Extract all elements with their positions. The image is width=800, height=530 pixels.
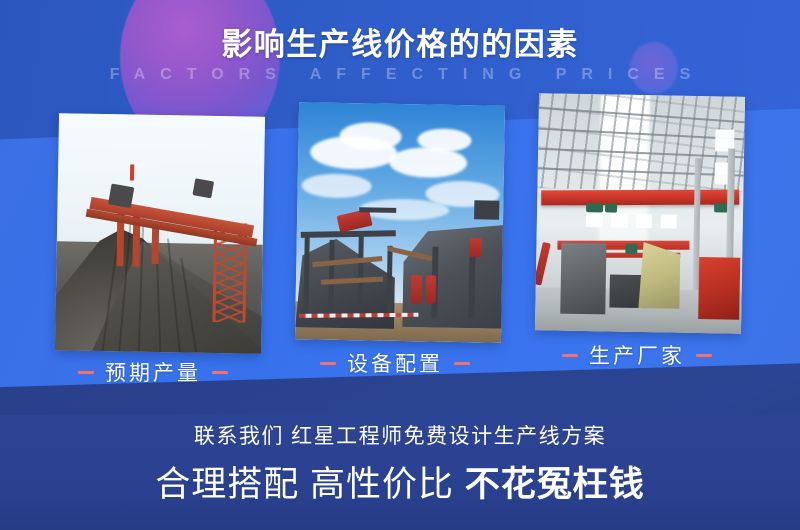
photo-card-equipment-config[interactable]: [295, 102, 505, 343]
dash-left-icon: [320, 362, 336, 365]
photo-factory-interior: [535, 93, 745, 334]
photo-card-manufacturer[interactable]: [535, 93, 745, 334]
caption-expected-output: 预期产量: [78, 357, 228, 387]
dash-right-icon: [454, 362, 470, 365]
page-subtitle: FACTORS AFFECTING PRICES: [0, 66, 800, 84]
photo-aggregate-stockpile: [55, 113, 265, 354]
dash-right-icon: [696, 354, 712, 357]
footer-slogan-light: 合理搭配 高性价比: [155, 465, 464, 504]
dash-right-icon: [212, 371, 228, 374]
caption-manufacturer: 生产厂家: [562, 340, 712, 370]
caption-equipment-config: 设备配置: [320, 348, 470, 378]
footer-contact-line: 联系我们 红星工程师免费设计生产线方案: [0, 420, 800, 450]
page-title: 影响生产线价格的的因素: [0, 26, 800, 63]
dash-left-icon: [562, 354, 578, 357]
footer-slogan-heavy: 不花冤枉钱: [465, 465, 645, 504]
caption-text: 设备配置: [347, 348, 443, 378]
footer-slogan: 合理搭配 高性价比 不花冤枉钱: [0, 456, 800, 507]
banner-stage: 影响生产线价格的的因素 FACTORS AFFECTING PRICES: [0, 0, 800, 530]
photo-crushing-plant: [295, 102, 505, 343]
dash-left-icon: [78, 371, 94, 374]
photo-card-expected-output[interactable]: [55, 113, 265, 354]
caption-text: 预期产量: [105, 357, 201, 387]
caption-text: 生产厂家: [589, 340, 685, 370]
